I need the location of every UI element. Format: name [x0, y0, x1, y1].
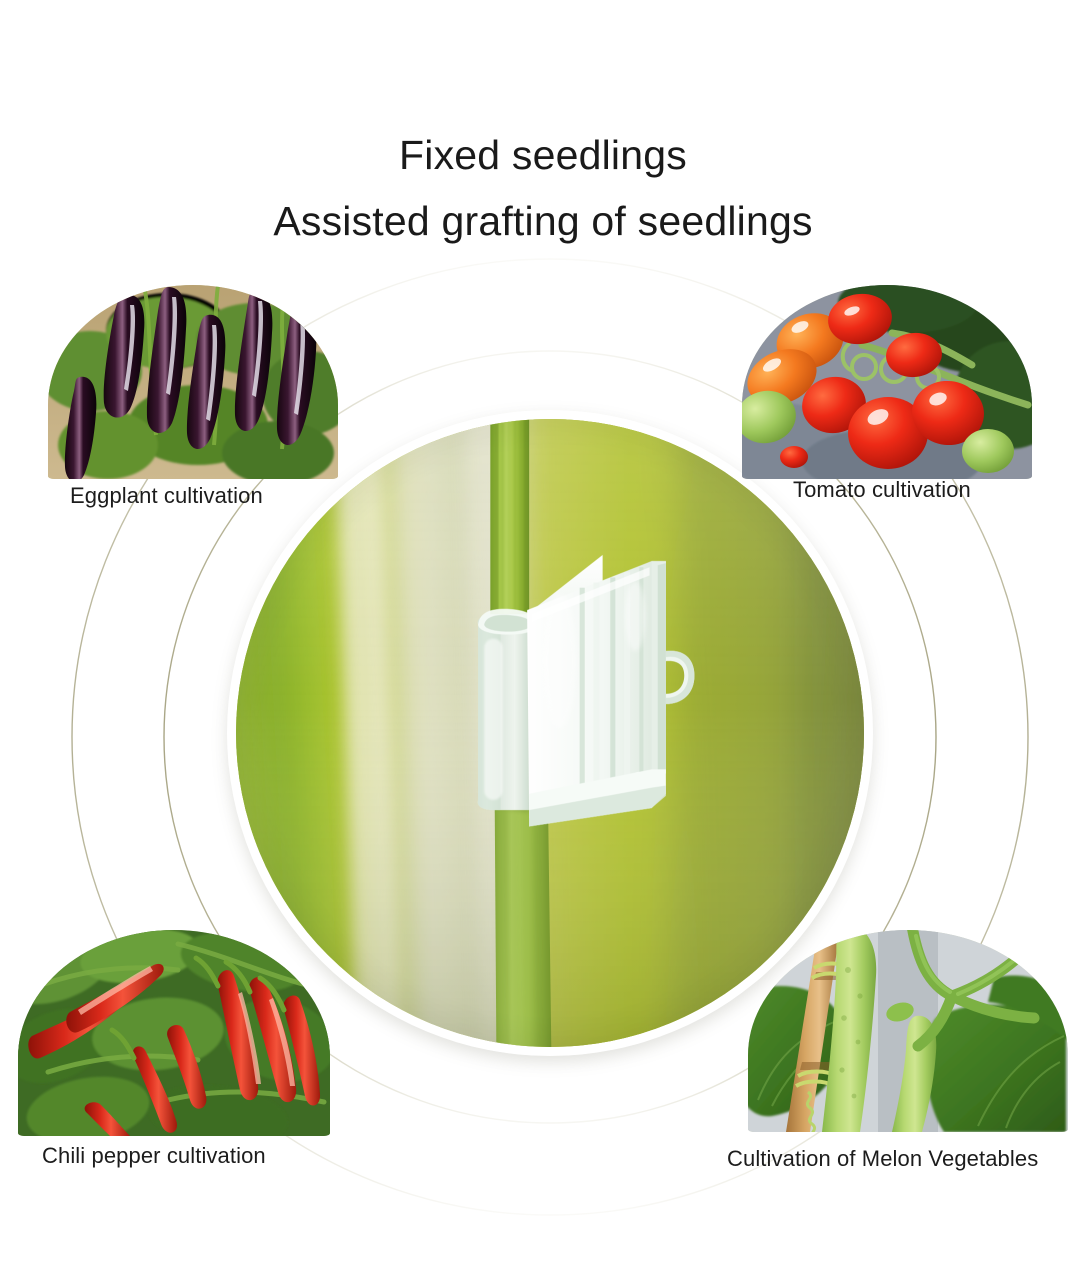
- satellite-chili-pepper: [18, 930, 330, 1136]
- satellite-label-eggplant: Eggplant cultivation: [70, 483, 263, 509]
- satellite-eggplant: [48, 285, 338, 479]
- satellite-tomato: [742, 285, 1032, 479]
- chili-pepper-cultivation-photo: [18, 930, 330, 1136]
- satellite-label-chili-pepper: Chili pepper cultivation: [42, 1143, 266, 1169]
- satellite-label-tomato: Tomato cultivation: [793, 477, 971, 503]
- satellite-melon-vegetables: [748, 930, 1068, 1132]
- satellite-label-melon-vegetables: Cultivation of Melon Vegetables: [727, 1146, 1038, 1172]
- melon-vegetable-cultivation-photo: [748, 930, 1068, 1132]
- product-infographic-page: Fixed seedlings Assisted grafting of see…: [0, 0, 1086, 1272]
- tomato-cultivation-photo: [742, 285, 1032, 479]
- eggplant-cultivation-photo: [48, 285, 338, 479]
